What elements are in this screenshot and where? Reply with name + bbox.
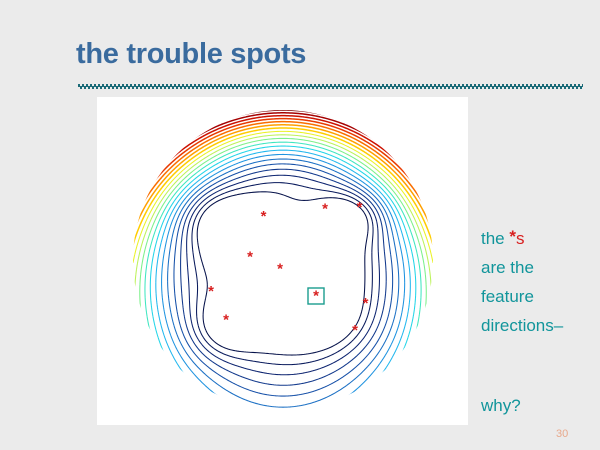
feature-marker: * (352, 322, 358, 339)
feature-marker: * (277, 261, 283, 278)
feature-marker: * (261, 208, 267, 225)
caption-line-1-prefix: the (481, 229, 509, 248)
feature-marker: * (208, 283, 214, 300)
slide: the trouble spots ********** the *s are … (0, 0, 600, 450)
feature-marker: * (363, 295, 369, 312)
feature-marker: * (322, 201, 328, 218)
title-divider (78, 84, 583, 89)
feature-marker: * (357, 199, 363, 216)
caption-line-1: the *s (481, 222, 563, 253)
page-number: 30 (556, 428, 568, 440)
caption-block: the *s are the feature directions– (481, 222, 563, 340)
caption-line-3: feature (481, 282, 563, 311)
asterisk-glyph: * (509, 227, 516, 246)
figure-panel: ********** (97, 97, 468, 425)
caption-line-2: are the (481, 253, 563, 282)
feature-marker: * (313, 288, 319, 305)
page-title: the trouble spots (76, 38, 306, 71)
feature-marker: * (223, 312, 229, 329)
contour-plot: ********** (97, 97, 468, 425)
caption-line-4: directions– (481, 311, 563, 340)
feature-marker: * (247, 249, 253, 266)
caption-line-1-suffix: s (516, 229, 525, 248)
caption-question: why? (481, 396, 521, 416)
